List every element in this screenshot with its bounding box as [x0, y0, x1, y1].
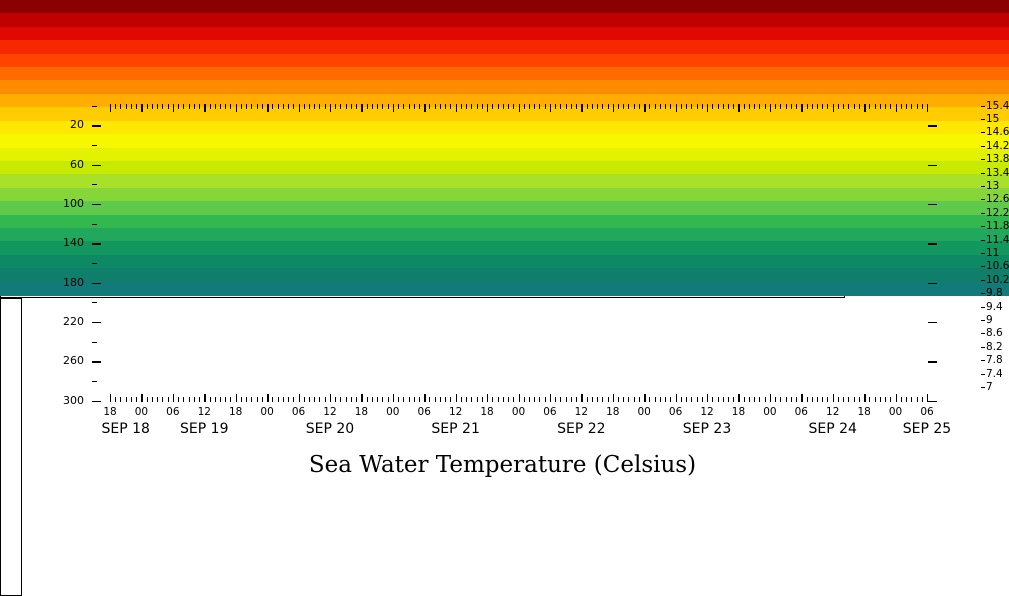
x-axis-minor-tick-top — [178, 104, 179, 109]
colorbar-label: 11.8 — [986, 220, 1009, 232]
x-axis-minor-tick-top — [513, 104, 514, 109]
x-axis-minor-tick-top — [571, 104, 572, 109]
x-axis-minor-tick — [681, 397, 682, 402]
x-axis-minor-tick-top — [293, 104, 294, 109]
x-axis-minor-tick — [608, 397, 609, 402]
x-axis-minor-tick — [230, 397, 231, 402]
x-axis-tick-top — [833, 104, 834, 112]
x-axis-minor-tick-top — [587, 104, 588, 109]
colorbar-label: 9 — [986, 314, 993, 326]
x-axis-minor-tick — [812, 397, 813, 402]
x-axis-minor-tick-top — [602, 104, 603, 109]
x-axis-minor-tick-top — [168, 104, 169, 109]
x-axis-hour-label: 00 — [378, 406, 408, 418]
x-axis-minor-tick-top — [555, 104, 556, 109]
x-axis-minor-tick — [377, 397, 378, 402]
x-axis-minor-tick-top — [576, 104, 577, 109]
x-axis-minor-tick — [503, 397, 504, 402]
x-axis-tick-top — [738, 104, 739, 112]
colorbar-tick — [981, 387, 985, 388]
y-axis-label: 220 — [44, 315, 84, 328]
x-axis-minor-tick-top — [461, 104, 462, 109]
colorbar-label: 13.8 — [986, 153, 1009, 165]
colorbar-label: 15.4 — [986, 100, 1009, 112]
y-axis-minor-tick — [92, 106, 97, 107]
x-axis-day-label: SEP 21 — [401, 421, 511, 437]
x-axis-minor-tick — [623, 397, 624, 402]
x-axis-minor-tick-top — [749, 104, 750, 109]
x-axis-minor-tick — [733, 397, 734, 402]
x-axis-minor-tick-top — [639, 104, 640, 109]
x-axis-minor-tick-top — [246, 104, 247, 109]
y-axis-tick — [92, 283, 101, 284]
x-axis-minor-tick — [838, 397, 839, 402]
x-axis-minor-tick — [168, 397, 169, 402]
x-axis-minor-tick-top — [628, 104, 629, 109]
x-axis-hour-label: 06 — [912, 406, 942, 418]
x-axis-minor-tick — [199, 397, 200, 402]
x-axis-minor-tick — [403, 397, 404, 402]
x-axis-minor-tick — [194, 397, 195, 402]
x-axis-minor-tick-top — [890, 104, 891, 109]
colorbar-cell — [0, 282, 1009, 296]
x-axis-minor-tick — [272, 397, 273, 402]
colorbar-tick — [981, 173, 985, 174]
x-axis-hour-label: 18 — [95, 406, 125, 418]
colorbar-cell — [0, 268, 1009, 282]
x-axis-minor-tick-top — [686, 104, 687, 109]
x-axis-minor-tick-top — [539, 104, 540, 109]
x-axis-minor-tick-top — [712, 104, 713, 109]
y-axis-tick-right — [928, 401, 937, 402]
colorbar-tick — [981, 333, 985, 334]
x-axis-minor-tick — [555, 397, 556, 402]
x-axis-minor-tick — [450, 397, 451, 402]
x-axis-minor-tick-top — [848, 104, 849, 109]
x-axis-minor-tick — [723, 397, 724, 402]
x-axis-tick-top — [487, 104, 488, 112]
x-axis-minor-tick — [670, 397, 671, 402]
x-axis-minor-tick-top — [723, 104, 724, 109]
x-axis-minor-tick-top — [403, 104, 404, 109]
x-axis-minor-tick — [602, 397, 603, 402]
colorbar-tick — [981, 119, 985, 120]
x-axis-minor-tick — [178, 397, 179, 402]
colorbar-cell — [0, 40, 1009, 54]
x-axis-minor-tick-top — [372, 104, 373, 109]
x-axis-minor-tick-top — [450, 104, 451, 109]
x-axis-hour-label: 12 — [441, 406, 471, 418]
x-axis-minor-tick — [628, 397, 629, 402]
x-axis-minor-tick — [890, 397, 891, 402]
x-axis-minor-tick-top — [880, 104, 881, 109]
x-axis-minor-tick — [246, 397, 247, 402]
x-axis-minor-tick-top — [681, 104, 682, 109]
x-axis-minor-tick — [131, 397, 132, 402]
x-axis-minor-tick — [539, 397, 540, 402]
x-axis-minor-tick-top — [314, 104, 315, 109]
x-axis-minor-tick — [309, 397, 310, 402]
x-axis-day-label: SEP 20 — [275, 421, 385, 437]
x-axis-tick-top — [801, 104, 802, 112]
x-axis-minor-tick — [183, 397, 184, 402]
x-axis-minor-tick-top — [718, 104, 719, 109]
x-axis-minor-tick — [498, 397, 499, 402]
colorbar-cell — [0, 201, 1009, 215]
x-axis-minor-tick-top — [702, 104, 703, 109]
x-axis-minor-tick — [513, 397, 514, 402]
x-axis-minor-tick — [126, 397, 127, 402]
colorbar-cell — [0, 121, 1009, 135]
x-axis-minor-tick-top — [351, 104, 352, 109]
x-axis-tick-top — [141, 104, 142, 112]
colorbar-label: 7.8 — [986, 354, 1003, 366]
x-axis-minor-tick-top — [545, 104, 546, 109]
x-axis-tick-top — [613, 104, 614, 112]
x-axis-tick-top — [299, 104, 300, 112]
x-axis-tick — [267, 394, 268, 402]
x-axis-minor-tick-top — [288, 104, 289, 109]
colorbar-cell — [0, 148, 1009, 162]
x-axis-minor-tick-top — [843, 104, 844, 109]
colorbar-cell — [0, 241, 1009, 255]
x-axis-tick-top — [707, 104, 708, 112]
y-axis-tick-right — [928, 243, 937, 244]
x-axis-minor-tick-top — [917, 104, 918, 109]
colorbar-label: 7 — [986, 381, 993, 393]
x-axis-minor-tick-top — [471, 104, 472, 109]
y-axis-tick — [92, 322, 101, 323]
colorbar-cell — [0, 107, 1009, 121]
x-axis-minor-tick-top — [869, 104, 870, 109]
x-axis-minor-tick-top — [225, 104, 226, 109]
x-axis-tick — [644, 394, 645, 402]
x-axis-hour-label: 06 — [158, 406, 188, 418]
x-axis-minor-tick-top — [199, 104, 200, 109]
x-axis-tick-top — [393, 104, 394, 112]
x-axis-minor-tick — [655, 397, 656, 402]
x-axis-minor-tick — [325, 397, 326, 402]
x-axis-hour-label: 18 — [723, 406, 753, 418]
x-axis-minor-tick — [340, 397, 341, 402]
x-axis-tick — [833, 394, 834, 402]
y-axis-label: 300 — [44, 394, 84, 407]
x-axis-minor-tick-top — [230, 104, 231, 109]
x-axis-minor-tick — [634, 397, 635, 402]
x-axis-minor-tick-top — [325, 104, 326, 109]
x-axis-tick — [676, 394, 677, 402]
colorbar-label: 10.6 — [986, 260, 1009, 272]
x-axis-minor-tick-top — [435, 104, 436, 109]
x-axis-tick-top — [644, 104, 645, 112]
x-axis-minor-tick — [885, 397, 886, 402]
x-axis-minor-tick-top — [754, 104, 755, 109]
x-axis-minor-tick-top — [508, 104, 509, 109]
x-axis-minor-tick — [152, 397, 153, 402]
x-axis-minor-tick — [372, 397, 373, 402]
x-axis-hour-label: 06 — [535, 406, 565, 418]
x-axis-minor-tick-top — [183, 104, 184, 109]
x-axis-minor-tick — [147, 397, 148, 402]
x-axis-minor-tick-top — [304, 104, 305, 109]
x-axis-minor-tick — [718, 397, 719, 402]
x-axis-minor-tick-top — [503, 104, 504, 109]
x-axis-tick-top — [424, 104, 425, 112]
x-axis-hour-label: 00 — [252, 406, 282, 418]
x-axis-minor-tick — [765, 397, 766, 402]
x-axis-minor-tick — [649, 397, 650, 402]
x-axis-minor-tick — [859, 397, 860, 402]
x-axis-minor-tick-top — [906, 104, 907, 109]
x-axis-minor-tick — [120, 397, 121, 402]
x-axis-hour-label: 18 — [849, 406, 879, 418]
x-axis-minor-tick — [210, 397, 211, 402]
x-axis-minor-tick-top — [131, 104, 132, 109]
x-axis-hour-label: 06 — [786, 406, 816, 418]
x-axis-minor-tick — [278, 397, 279, 402]
x-axis-tick — [738, 394, 739, 402]
x-axis-minor-tick-top — [566, 104, 567, 109]
x-axis-minor-tick — [471, 397, 472, 402]
x-axis-minor-tick-top — [608, 104, 609, 109]
x-axis-minor-tick — [466, 397, 467, 402]
colorbar-tick — [981, 132, 985, 133]
x-axis-minor-tick-top — [377, 104, 378, 109]
colorbar-cell — [0, 161, 1009, 175]
x-axis-minor-tick-top — [283, 104, 284, 109]
x-axis-minor-tick-top — [822, 104, 823, 109]
x-axis-tick-top — [896, 104, 897, 112]
x-axis-hour-label: 12 — [818, 406, 848, 418]
x-axis-minor-tick — [477, 397, 478, 402]
x-axis-minor-tick-top — [147, 104, 148, 109]
x-axis-minor-tick-top — [319, 104, 320, 109]
colorbar-label: 14.6 — [986, 126, 1009, 138]
x-axis-minor-tick-top — [655, 104, 656, 109]
x-axis-minor-tick-top — [272, 104, 273, 109]
x-axis-tick — [236, 394, 237, 402]
x-axis-tick — [361, 394, 362, 402]
x-axis-minor-tick — [780, 397, 781, 402]
x-axis-minor-tick-top — [215, 104, 216, 109]
x-axis-hour-label: 18 — [598, 406, 628, 418]
x-axis-tick-top — [456, 104, 457, 112]
y-axis-tick — [92, 165, 101, 166]
x-axis-minor-tick — [492, 397, 493, 402]
x-axis-minor-tick — [749, 397, 750, 402]
x-axis-minor-tick — [822, 397, 823, 402]
x-axis-minor-tick — [691, 397, 692, 402]
x-axis-minor-tick — [917, 397, 918, 402]
x-axis-hour-label: 12 — [189, 406, 219, 418]
x-axis-minor-tick-top — [477, 104, 478, 109]
x-axis-hour-label: 12 — [692, 406, 722, 418]
x-axis-minor-tick — [875, 397, 876, 402]
x-axis-hour-label: 00 — [504, 406, 534, 418]
figure-caption: Sea Water Temperature (Celsius) — [0, 452, 1009, 478]
x-axis-minor-tick-top — [854, 104, 855, 109]
x-axis-minor-tick-top — [194, 104, 195, 109]
x-axis-day-label: SEP 23 — [652, 421, 762, 437]
x-axis-minor-tick-top — [414, 104, 415, 109]
x-axis-minor-tick-top — [189, 104, 190, 109]
x-axis-minor-tick-top — [807, 104, 808, 109]
y-axis-minor-tick — [92, 145, 97, 146]
x-axis-minor-tick — [744, 397, 745, 402]
x-axis-minor-tick — [162, 397, 163, 402]
x-axis-minor-tick-top — [597, 104, 598, 109]
y-axis-minor-tick — [92, 224, 97, 225]
x-axis-minor-tick-top — [309, 104, 310, 109]
colorbar-cell — [0, 228, 1009, 242]
x-axis-tick — [424, 394, 425, 402]
x-axis-tick-top — [550, 104, 551, 112]
x-axis-tick-top — [519, 104, 520, 112]
x-axis-minor-tick-top — [162, 104, 163, 109]
x-axis-minor-tick — [382, 397, 383, 402]
x-axis-minor-tick-top — [759, 104, 760, 109]
x-axis-minor-tick — [283, 397, 284, 402]
x-axis-minor-tick-top — [210, 104, 211, 109]
x-axis-minor-tick-top — [812, 104, 813, 109]
x-axis-hour-label: 18 — [346, 406, 376, 418]
x-axis-minor-tick-top — [335, 104, 336, 109]
x-axis-minor-tick — [482, 397, 483, 402]
x-axis-hour-label: 06 — [284, 406, 314, 418]
x-axis-minor-tick-top — [775, 104, 776, 109]
y-axis-minor-tick — [92, 184, 97, 185]
x-axis-minor-tick — [702, 397, 703, 402]
x-axis-tick — [581, 394, 582, 402]
x-axis-tick-top — [770, 104, 771, 112]
x-axis-minor-tick — [843, 397, 844, 402]
x-axis-tick — [519, 394, 520, 402]
x-axis-minor-tick-top — [356, 104, 357, 109]
colorbar-cell — [0, 215, 1009, 229]
x-axis-minor-tick — [351, 397, 352, 402]
x-axis-minor-tick — [440, 397, 441, 402]
x-axis-minor-tick-top — [445, 104, 446, 109]
x-axis-minor-tick-top — [634, 104, 635, 109]
x-axis-tick-top — [864, 104, 865, 112]
x-axis-minor-tick — [319, 397, 320, 402]
x-axis-minor-tick-top — [791, 104, 792, 109]
x-axis-minor-tick — [854, 397, 855, 402]
y-axis-tick — [92, 401, 101, 402]
x-axis-minor-tick-top — [560, 104, 561, 109]
x-axis-minor-tick — [335, 397, 336, 402]
x-axis-minor-tick-top — [251, 104, 252, 109]
x-axis-minor-tick — [409, 397, 410, 402]
x-axis-minor-tick — [388, 397, 389, 402]
x-axis-tick-top — [361, 104, 362, 112]
colorbar-cell — [0, 27, 1009, 41]
x-axis-minor-tick-top — [429, 104, 430, 109]
x-axis-minor-tick — [435, 397, 436, 402]
x-axis-minor-tick-top — [157, 104, 158, 109]
colorbar-tick — [981, 320, 985, 321]
x-axis-minor-tick — [419, 397, 420, 402]
colorbar-label: 13 — [986, 180, 999, 192]
colorbar-label: 9.4 — [986, 301, 1003, 313]
y-axis-tick-right — [928, 204, 937, 205]
x-axis-minor-tick — [848, 397, 849, 402]
x-axis-minor-tick — [398, 397, 399, 402]
y-axis-tick-right — [928, 322, 937, 323]
x-axis-minor-tick — [225, 397, 226, 402]
x-axis-hour-label: 00 — [126, 406, 156, 418]
x-axis-minor-tick — [759, 397, 760, 402]
x-axis-minor-tick — [115, 397, 116, 402]
x-axis-minor-tick-top — [733, 104, 734, 109]
x-axis-minor-tick — [529, 397, 530, 402]
x-axis-minor-tick-top — [665, 104, 666, 109]
colorbar-cell — [0, 134, 1009, 148]
x-axis-minor-tick-top — [796, 104, 797, 109]
x-axis-minor-tick-top — [697, 104, 698, 109]
colorbar-tick — [981, 146, 985, 147]
x-axis-minor-tick — [346, 397, 347, 402]
x-axis-minor-tick — [257, 397, 258, 402]
x-axis-minor-tick-top — [340, 104, 341, 109]
x-axis-minor-tick — [288, 397, 289, 402]
x-axis-minor-tick-top — [241, 104, 242, 109]
x-axis-minor-tick — [251, 397, 252, 402]
x-axis-minor-tick — [922, 397, 923, 402]
x-axis-minor-tick — [545, 397, 546, 402]
x-axis-minor-tick — [712, 397, 713, 402]
x-axis-tick — [487, 394, 488, 402]
x-axis-tick — [299, 394, 300, 402]
x-axis-minor-tick-top — [875, 104, 876, 109]
x-axis-minor-tick — [901, 397, 902, 402]
x-axis-tick-top — [676, 104, 677, 112]
x-axis-minor-tick — [665, 397, 666, 402]
x-axis-minor-tick-top — [691, 104, 692, 109]
x-axis-tick — [204, 394, 205, 402]
x-axis-minor-tick-top — [529, 104, 530, 109]
x-axis-minor-tick-top — [786, 104, 787, 109]
colorbar-label: 11 — [986, 247, 999, 259]
x-axis-minor-tick — [791, 397, 792, 402]
colorbar-tick — [981, 106, 985, 107]
x-axis-minor-tick-top — [262, 104, 263, 109]
y-axis-tick — [92, 361, 101, 362]
x-axis-minor-tick-top — [220, 104, 221, 109]
x-axis-minor-tick — [827, 397, 828, 402]
x-axis-minor-tick-top — [367, 104, 368, 109]
x-axis-minor-tick-top — [115, 104, 116, 109]
x-axis-minor-tick-top — [911, 104, 912, 109]
y-axis-tick-right — [928, 125, 937, 126]
x-axis-minor-tick — [262, 397, 263, 402]
x-axis-tick-top — [330, 104, 331, 112]
colorbar-tick — [981, 186, 985, 187]
y-axis-minor-tick — [92, 302, 97, 303]
x-axis-minor-tick-top — [922, 104, 923, 109]
colorbar-tick — [981, 307, 985, 308]
x-axis-hour-label: 12 — [315, 406, 345, 418]
x-axis-tick — [330, 394, 331, 402]
x-axis-hour-label: 06 — [661, 406, 691, 418]
x-axis-minor-tick-top — [670, 104, 671, 109]
x-axis-minor-tick-top — [382, 104, 383, 109]
x-axis-tick-top — [927, 104, 928, 112]
colorbar-tick — [981, 347, 985, 348]
colorbar-cell — [0, 80, 1009, 94]
colorbar-label: 11.4 — [986, 234, 1009, 246]
x-axis-minor-tick — [241, 397, 242, 402]
